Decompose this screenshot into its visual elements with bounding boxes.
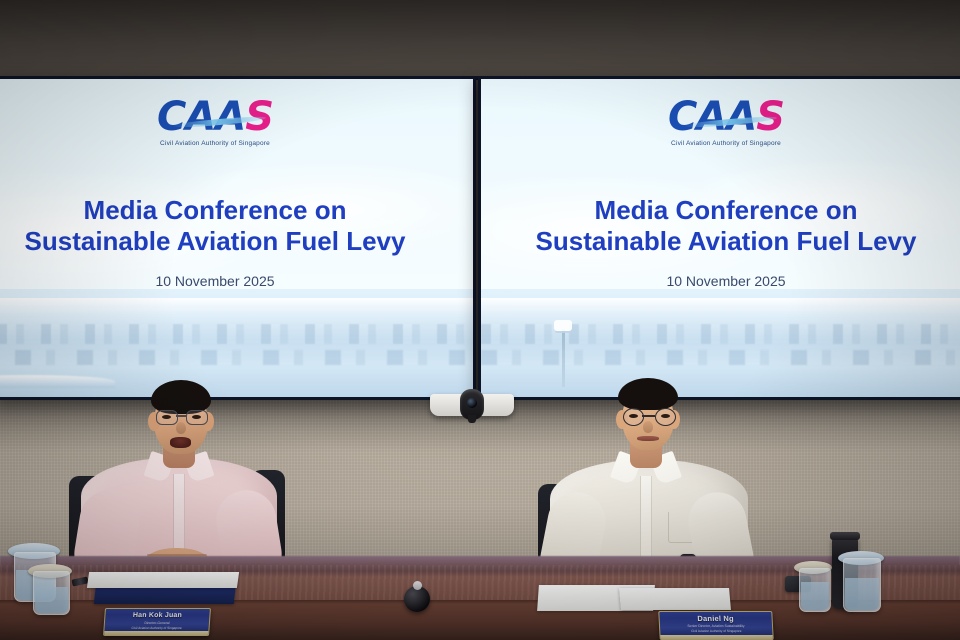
caas-wordmark: CAAS	[157, 97, 273, 137]
press-conference-scene: CAAS Civil Aviation Authority of Singapo…	[0, 0, 960, 640]
nose-right-speaker	[643, 421, 653, 433]
slide-title-right: Media Conference on Sustainable Aviation…	[481, 195, 960, 256]
caas-logo-left: CAAS Civil Aviation Authority of Singapo…	[0, 97, 476, 147]
nameplate-right-speaker: Daniel Ng Senior Director, Aviation Sust…	[658, 611, 774, 640]
video-conference-camera[interactable]	[430, 394, 514, 416]
water-level	[845, 578, 879, 610]
tumbler-lid	[830, 532, 860, 540]
nameplate-left-speaker: Han Kok Juan Director-General Civil Avia…	[103, 608, 211, 636]
glasses-bridge	[642, 415, 655, 417]
slide-title-line-2: Sustainable Aviation Fuel Levy	[481, 226, 960, 257]
slide-title-left: Media Conference on Sustainable Aviation…	[0, 195, 476, 256]
glasses-bridge	[176, 415, 186, 417]
caas-logo-right: CAAS Civil Aviation Authority of Singapo…	[481, 97, 960, 147]
slide-right: CAAS Civil Aviation Authority of Singapo…	[481, 79, 960, 397]
microphone-tip	[413, 581, 422, 590]
terminal-roof-icon	[0, 375, 115, 388]
camera-mount-stem	[468, 415, 476, 423]
slide-title-line-1: Media Conference on	[481, 195, 960, 226]
nameplate-role-line-1: Director-General	[105, 622, 209, 626]
camera-lens-icon	[467, 398, 477, 408]
caas-wordmark: CAAS	[668, 97, 784, 137]
water-level	[35, 587, 68, 613]
nameplate-role-line-2: Civil Aviation Authority of Singapore	[104, 627, 208, 631]
slide-date-right: 10 November 2025	[481, 273, 960, 289]
water-level	[801, 582, 829, 610]
nameplate-role-line-2: Civil Aviation Authority of Singapore	[660, 630, 772, 634]
upper-wall	[0, 0, 960, 80]
control-tower-mast	[562, 329, 565, 387]
control-tower-icon	[559, 329, 567, 387]
presentation-screen-right[interactable]: CAAS Civil Aviation Authority of Singapo…	[478, 76, 960, 400]
eye-left	[629, 414, 638, 418]
hair-right-speaker	[618, 378, 678, 410]
mouth-speaking	[170, 437, 191, 448]
hair-left-speaker	[151, 380, 211, 414]
papers-left-speaker[interactable]	[87, 572, 239, 588]
caas-tagline: Civil Aviation Authority of Singapore	[481, 140, 960, 147]
nameplate-role-line-1: Senior Director, Aviation Sustainability	[660, 625, 772, 629]
eye-left	[162, 415, 171, 419]
nose-left-speaker	[176, 422, 186, 434]
slide-title-line-1: Media Conference on	[0, 195, 476, 226]
water-glass-right-inner[interactable]	[799, 568, 831, 612]
eye-right	[192, 415, 201, 419]
water-glass-far-right[interactable]	[843, 558, 881, 612]
nameplate-name: Daniel Ng	[659, 615, 771, 623]
nameplate-name: Han Kok Juan	[105, 612, 209, 619]
caas-tagline: Civil Aviation Authority of Singapore	[0, 140, 476, 147]
presentation-screen-left[interactable]: CAAS Civil Aviation Authority of Singapo…	[0, 76, 476, 400]
airport-panorama-left	[0, 298, 476, 397]
eye-right	[661, 414, 670, 418]
control-tower-cab	[554, 320, 572, 331]
nameplate-base	[103, 631, 210, 636]
slide-date-left: 10 November 2025	[0, 273, 476, 289]
nameplate-base	[658, 635, 773, 640]
airport-panorama-right	[481, 298, 960, 397]
slide-left: CAAS Civil Aviation Authority of Singapo…	[0, 79, 476, 397]
table-microphone[interactable]	[404, 586, 430, 612]
water-glass-left-inner[interactable]	[33, 571, 70, 615]
papers-right-speaker-b[interactable]	[619, 588, 731, 610]
slide-title-line-2: Sustainable Aviation Fuel Levy	[0, 226, 476, 257]
mouth-right-speaker	[637, 436, 659, 441]
